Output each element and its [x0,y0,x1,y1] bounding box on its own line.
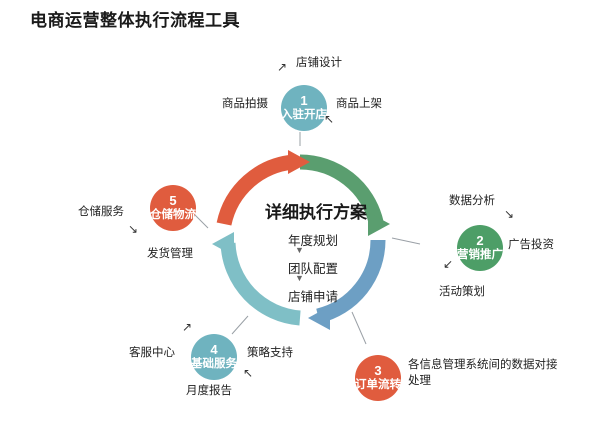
arrow-node2-to-shuju: ↘ [504,207,514,221]
node-3-label: 订单流转 [355,379,401,392]
arrow-node5-to-cangchu: ↘ [128,222,138,236]
label-cangchu-fuwu: 仓储服务 [78,203,124,219]
node-2-number: 2 [476,234,483,249]
label-kefu-zhongxin: 客服中心 [129,344,175,360]
node-4-number: 4 [210,343,217,358]
arrow-node4-to-yuedu: ↖ [243,366,253,380]
center-title: 详细执行方案 [265,198,367,223]
node-1-ruzhu-kaidian[interactable]: 1 入驻开店 [281,85,327,131]
node-2-label: 营销推广 [457,249,503,262]
label-shuju-fenxi: 数据分析 [449,192,495,208]
label-shangpin-shangjia: 商品上架 [336,95,382,111]
label-guanggao-touzi: 广告投资 [508,236,554,252]
label-celve-zhichi: 策略支持 [247,344,293,360]
center-separator-0: ▼ [295,245,304,255]
arrow-node1-to-shangjia: ↖ [324,112,334,126]
node-4-jichu-fuwu[interactable]: 4 基础服务 [191,334,237,380]
label-fahuo-guanli: 发货管理 [147,245,193,261]
label-xinxi-guanli-xitong: 各信息管理系统间的数据对接处理 [408,358,558,389]
label-shangpin-paishe: 商品拍摄 [222,95,268,111]
label-huodong-cehua: 活动策划 [439,283,485,299]
node-5-number: 5 [169,194,176,209]
node-4-label: 基础服务 [191,358,237,371]
node-5-cangchu-wuliu[interactable]: 5 仓储物流 [150,185,196,231]
label-yuedu-baogao: 月度报告 [186,382,232,398]
center-item-2: 店铺申请 [288,286,338,305]
node-3-number: 3 [374,364,381,379]
arrow-node4-to-kefu: ↗ [182,320,192,334]
arrow-node1-to-dianpu: ↗ [277,60,287,74]
node-1-label: 入驻开店 [281,109,327,122]
center-separator-1: ▼ [295,273,304,283]
node-3-dingdan-liuzhuan[interactable]: 3 订单流转 [355,355,401,401]
label-dianpu-sheji: 店铺设计 [296,54,342,70]
arrow-node2-to-huodong: ↙ [443,257,453,271]
node-2-yingxiao-tuiguang[interactable]: 2 营销推广 [457,225,503,271]
node-5-label: 仓储物流 [150,209,196,222]
node-1-number: 1 [300,94,307,109]
